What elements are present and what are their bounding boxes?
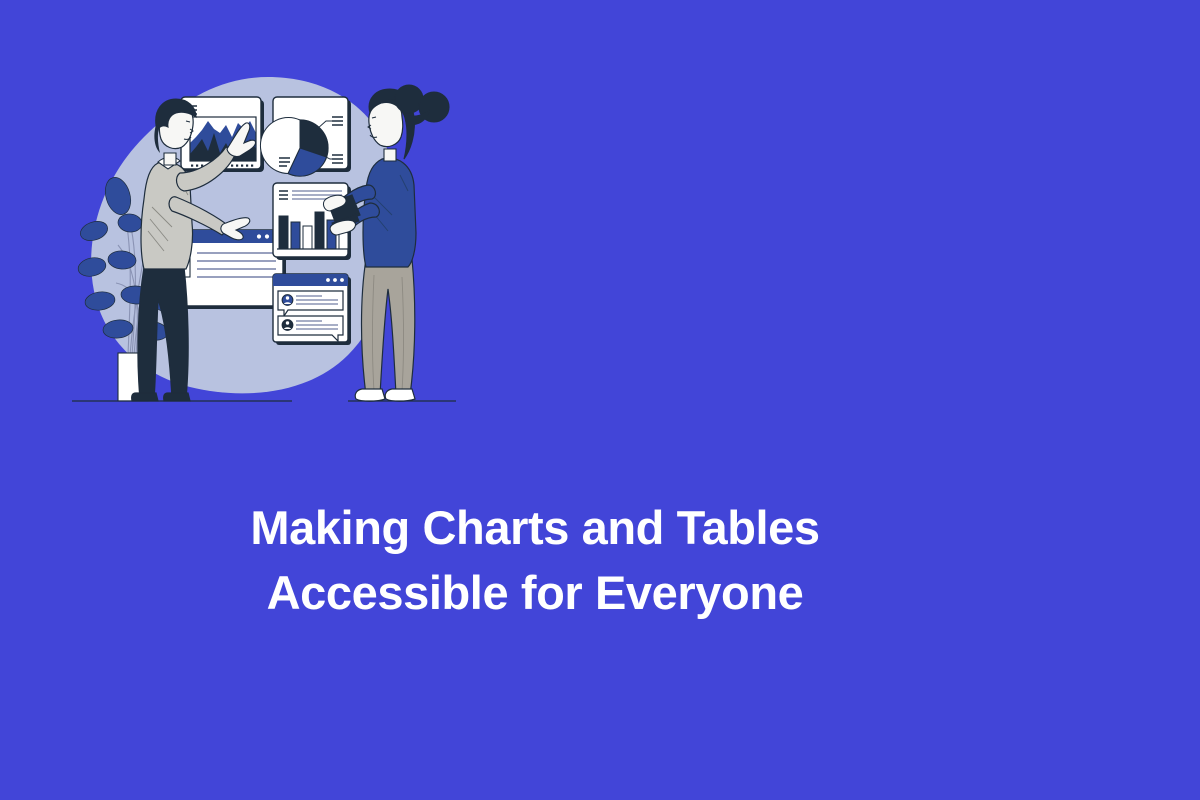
- user-avatar-icon: [282, 320, 293, 331]
- headline-line-2: Accessible for Everyone: [0, 560, 1070, 625]
- window-dots: [326, 278, 344, 282]
- headline: Making Charts and Tables Accessible for …: [0, 495, 1070, 625]
- hero-banner: Making Charts and Tables Accessible for …: [0, 0, 1200, 800]
- comments-card[interactable]: [273, 274, 351, 345]
- woman-pants: [362, 259, 415, 395]
- man-shoes: [132, 393, 190, 401]
- woman-shoes: [355, 389, 415, 401]
- man-neck: [164, 153, 176, 165]
- page-title: Making Charts and Tables Accessible for …: [0, 495, 1200, 625]
- woman-neck: [384, 149, 396, 161]
- data-analytics-dashboard-illustration: [60, 55, 460, 415]
- pie-chart-plot: [260, 118, 328, 177]
- user-avatar-icon: [282, 295, 293, 306]
- headline-line-1: Making Charts and Tables: [0, 495, 1070, 560]
- pie-chart-card[interactable]: [260, 97, 351, 176]
- illustration-svg: [60, 55, 460, 415]
